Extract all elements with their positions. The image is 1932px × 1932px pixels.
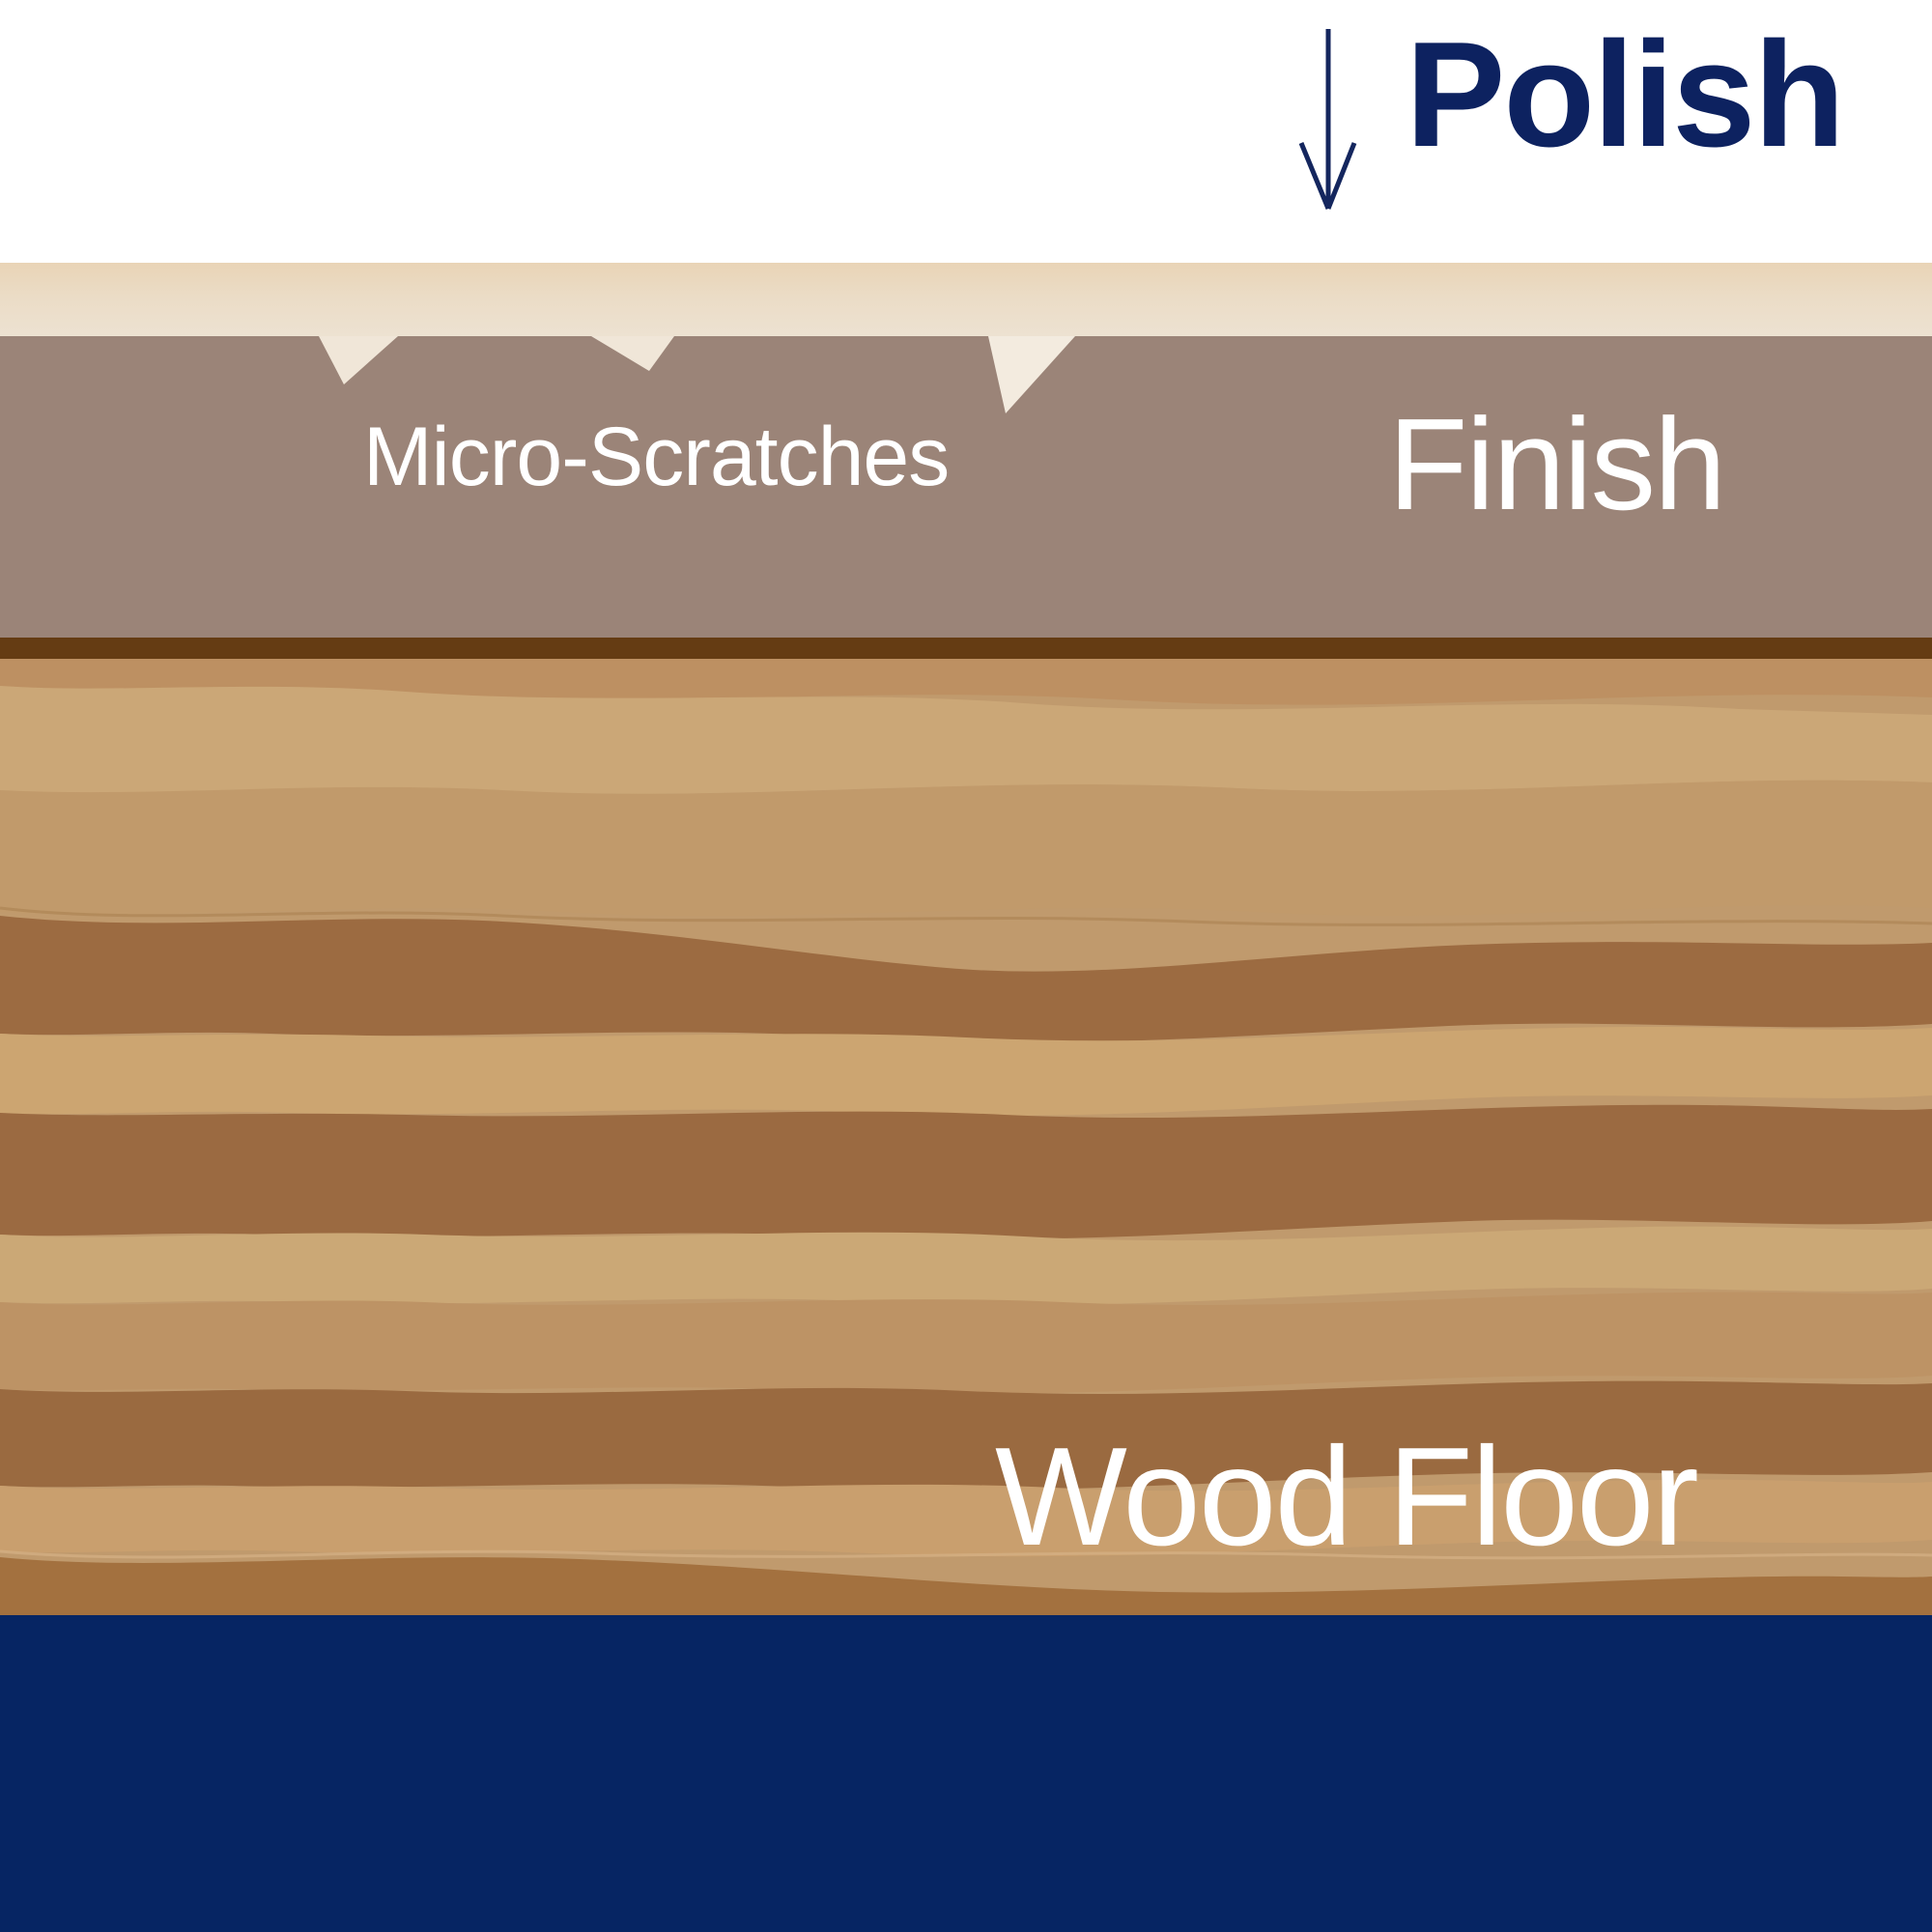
micro-scratch-2 [591, 336, 674, 371]
down-arrow-icon [1265, 29, 1391, 222]
micro-scratch-3 [988, 336, 1075, 413]
infographic-canvas: Polish Micro-Scratches Finish [0, 0, 1932, 1932]
polish-layer [0, 263, 1932, 338]
bottom-banner: Evens Out Floor Finish fills in micro-sc… [0, 1615, 1932, 1932]
polish-label: Polish [1406, 19, 1843, 169]
finish-wood-seam [0, 638, 1932, 659]
micro-scratches-label: Micro-Scratches [363, 415, 949, 498]
top-white-zone: Polish [0, 0, 1932, 263]
finish-label: Finish [1388, 399, 1724, 529]
micro-scratch-1 [319, 336, 398, 384]
wood-floor-layer: Wood Floor [0, 659, 1932, 1615]
wood-floor-label: Wood Floor [995, 1427, 1697, 1567]
